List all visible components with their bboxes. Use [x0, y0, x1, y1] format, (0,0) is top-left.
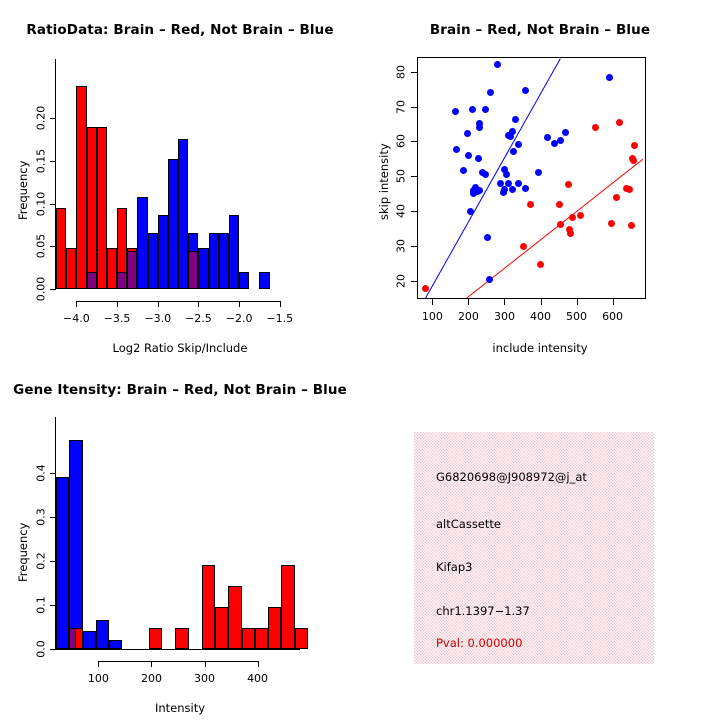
ratio-x-tick	[158, 301, 159, 307]
scatter-point-blue	[467, 208, 474, 215]
gene-bar-red	[255, 628, 268, 649]
scatter-point-blue	[453, 146, 460, 153]
scatter-point-blue	[557, 137, 564, 144]
ratio-x-tick	[76, 301, 77, 307]
ratio-bar-red	[76, 86, 86, 289]
gene-y-tick-label: 0.4	[35, 459, 48, 487]
ratio-y-tick-label: 0.05	[35, 229, 48, 263]
scatter-y-tick	[411, 141, 417, 142]
scatter-point-blue	[465, 152, 472, 159]
ratio-y-tick	[50, 161, 56, 162]
gene-y-axis-label: Frequency	[16, 523, 30, 582]
ratio-y-tick	[50, 118, 56, 119]
scatter-point-red	[613, 194, 620, 201]
scatter-x-tick-label: 500	[557, 310, 597, 323]
gene-bar-blue	[83, 631, 96, 649]
ratio-x-tick-label: −3.0	[138, 312, 178, 325]
ratio-histogram-panel: RatioData: Brain – Red, Not Brain – Blue…	[0, 0, 360, 360]
ratio-bar-blue	[229, 215, 239, 289]
ratio-bar-overlap	[127, 251, 137, 289]
scatter-data-area	[418, 58, 645, 298]
gene-bar-red	[228, 586, 241, 649]
scatter-point-blue	[464, 130, 471, 137]
gene-x-tick-label: 100	[78, 672, 118, 685]
scatter-y-tick	[411, 281, 417, 282]
ratio-y-tick	[50, 204, 56, 205]
gene-y-tick-label: 0.1	[35, 591, 48, 619]
scatter-point-blue	[487, 89, 494, 96]
scatter-point-blue	[509, 128, 516, 135]
scatter-point-blue	[515, 141, 522, 148]
scatter-y-tick	[411, 246, 417, 247]
gene-y-tick	[50, 473, 56, 474]
gene-x-tick-label: 200	[131, 672, 171, 685]
ratio-x-axis-label: Log2 Ratio Skip/Include	[0, 341, 360, 355]
ratio-bar-blue	[259, 272, 269, 289]
scatter-y-tick	[411, 72, 417, 73]
gene-bar-red	[215, 607, 228, 649]
gene-histogram-title: Gene Itensity: Brain – Red, Not Brain – …	[0, 382, 360, 398]
gene-bar-blue	[56, 477, 69, 649]
ratio-bar-blue	[198, 248, 208, 289]
scatter-point-blue	[469, 106, 476, 113]
gene-x-tick-label: 300	[185, 672, 225, 685]
ratio-x-tick-label: −1.5	[260, 312, 300, 325]
scatter-point-blue	[475, 155, 482, 162]
scatter-point-blue	[535, 169, 542, 176]
scatter-point-red	[577, 212, 584, 219]
info-locus: chr1.1397−1.37	[436, 604, 530, 618]
gene-bar-red	[295, 628, 308, 649]
ratio-x-axis-line	[76, 301, 279, 302]
scatter-point-red	[616, 119, 623, 126]
ratio-bar-red	[97, 127, 107, 289]
gene-x-tick	[151, 661, 152, 667]
scatter-x-tick	[432, 299, 433, 305]
scatter-point-blue	[482, 106, 489, 113]
scatter-point-blue	[522, 185, 529, 192]
scatter-y-tick-label: 70	[395, 92, 408, 122]
scatter-point-red	[556, 201, 563, 208]
scatter-point-red	[631, 142, 638, 149]
ratio-bar-blue	[148, 233, 158, 289]
scatter-y-tick	[411, 211, 417, 212]
scatter-point-blue	[606, 74, 613, 81]
scatter-x-tick-label: 600	[593, 310, 633, 323]
ratio-y-tick-label: 0.10	[35, 187, 48, 221]
scatter-point-blue	[501, 186, 508, 193]
ratio-x-tick-label: −4.0	[56, 312, 96, 325]
gene-y-tick-label: 0.0	[35, 635, 48, 663]
scatter-point-blue	[460, 167, 467, 174]
gene-bar-red	[202, 565, 215, 649]
ratio-bar-blue	[158, 215, 168, 289]
gene-bar-red	[175, 628, 188, 649]
scatter-point-blue	[522, 87, 529, 94]
ratio-bar-overlap	[188, 251, 198, 289]
gene-y-tick-label: 0.3	[35, 503, 48, 531]
gene-info-panel: G6820698@J908972@j_at altCassette Kifap3…	[414, 432, 654, 664]
gene-x-axis-label: Intensity	[0, 701, 360, 715]
scatter-point-red	[626, 186, 633, 193]
gene-x-tick	[98, 661, 99, 667]
gene-baseline	[56, 649, 300, 650]
scatter-x-tick-label: 300	[484, 310, 524, 323]
scatter-point-red	[567, 230, 574, 237]
info-pval: Pval: 0.000000	[436, 636, 522, 650]
scatter-point-red	[630, 157, 637, 164]
scatter-y-tick-label: 20	[395, 266, 408, 296]
gene-bar-overlap	[69, 628, 76, 649]
scatter-point-blue	[562, 129, 569, 136]
ratio-x-tick	[198, 301, 199, 307]
scatter-point-blue	[512, 116, 519, 123]
scatter-y-tick-label: 50	[395, 161, 408, 191]
gene-bar-red	[281, 565, 294, 649]
gene-histogram-panel: Gene Itensity: Brain – Red, Not Brain – …	[0, 360, 360, 720]
gene-x-tick	[258, 661, 259, 667]
scatter-point-blue	[515, 180, 522, 187]
gene-bar-red	[268, 607, 281, 649]
ratio-x-tick	[239, 301, 240, 307]
ratio-x-tick	[117, 301, 118, 307]
scatter-point-blue	[503, 171, 510, 178]
ratio-y-tick	[50, 289, 56, 290]
ratio-bar-blue	[209, 233, 219, 289]
gene-x-tick-label: 400	[238, 672, 278, 685]
scatter-point-red	[537, 261, 544, 268]
scatter-point-blue	[509, 186, 516, 193]
scatter-point-red	[527, 201, 534, 208]
scatter-point-blue	[470, 190, 477, 197]
ratio-histogram-title: RatioData: Brain – Red, Not Brain – Blue	[0, 22, 360, 38]
scatter-y-tick	[411, 176, 417, 177]
scatter-point-blue	[486, 276, 493, 283]
ratio-x-tick-label: −2.5	[178, 312, 218, 325]
scatter-x-tick-label: 200	[448, 310, 488, 323]
scatter-x-tick	[541, 299, 542, 305]
scatter-point-red	[569, 214, 576, 221]
ratio-bar-red	[87, 127, 97, 289]
scatter-point-blue	[482, 171, 489, 178]
scatter-y-tick-label: 30	[395, 231, 408, 261]
ratio-x-tick	[280, 301, 281, 307]
ratio-bar-red	[107, 248, 117, 289]
scatter-point-blue	[494, 61, 501, 68]
ratio-bar-red	[66, 248, 76, 289]
ratio-bar-blue	[178, 139, 188, 289]
scatter-point-red	[592, 124, 599, 131]
scatter-panel: Brain – Red, Not Brain – Blue skip inten…	[360, 0, 720, 360]
ratio-x-tick-label: −2.0	[219, 312, 259, 325]
scatter-point-blue	[551, 140, 558, 147]
scatter-y-tick-label: 40	[395, 196, 408, 226]
info-event-type: altCassette	[436, 517, 501, 531]
gene-bar-blue	[69, 440, 82, 649]
scatter-x-axis-label: include intensity	[360, 341, 720, 355]
ratio-y-axis-label: Frequency	[16, 161, 30, 220]
ratio-bar-blue	[168, 159, 178, 289]
ratio-y-tick-label: 0.15	[35, 144, 48, 178]
scatter-point-blue	[544, 134, 551, 141]
scatter-title: Brain – Red, Not Brain – Blue	[360, 22, 720, 38]
scatter-point-red	[520, 243, 527, 250]
scatter-x-tick	[613, 299, 614, 305]
ratio-bar-blue	[239, 272, 249, 289]
scatter-point-blue	[476, 124, 483, 131]
ratio-bar-overlap	[117, 272, 127, 289]
scatter-point-blue	[476, 187, 483, 194]
scatter-x-tick-label: 100	[412, 310, 452, 323]
info-gene-symbol: Kifap3	[436, 560, 472, 574]
scatter-point-blue	[510, 148, 517, 155]
gene-bar-red	[242, 628, 255, 649]
scatter-x-tick	[504, 299, 505, 305]
gene-bar-blue	[109, 640, 122, 649]
scatter-point-red	[628, 222, 635, 229]
scatter-x-tick-label: 400	[521, 310, 561, 323]
gene-bar-blue	[96, 620, 109, 649]
info-probe-id: G6820698@J908972@j_at	[436, 470, 587, 484]
scatter-x-tick	[468, 299, 469, 305]
scatter-point-blue	[452, 108, 459, 115]
ratio-y-tick-label: 0.20	[35, 101, 48, 135]
gene-x-axis-line	[98, 661, 257, 662]
scatter-y-tick-label: 80	[395, 57, 408, 87]
gene-y-tick-label: 0.2	[35, 547, 48, 575]
gene-x-tick	[205, 661, 206, 667]
ratio-y-tick-label: 0.00	[35, 272, 48, 306]
gene-bar-red	[149, 628, 162, 649]
scatter-point-red	[557, 221, 564, 228]
scatter-point-blue	[484, 234, 491, 241]
ratio-bar-blue	[219, 233, 229, 289]
ratio-bar-overlap	[87, 272, 97, 289]
scatter-x-tick	[577, 299, 578, 305]
scatter-point-red	[608, 220, 615, 227]
ratio-bar-red	[56, 208, 66, 289]
scatter-y-axis-label: skip intensity	[377, 143, 391, 220]
scatter-y-tick	[411, 107, 417, 108]
ratio-bar-blue	[137, 197, 147, 289]
scatter-point-red	[565, 181, 572, 188]
ratio-x-tick-label: −3.5	[97, 312, 137, 325]
scatter-y-tick-label: 60	[395, 126, 408, 156]
